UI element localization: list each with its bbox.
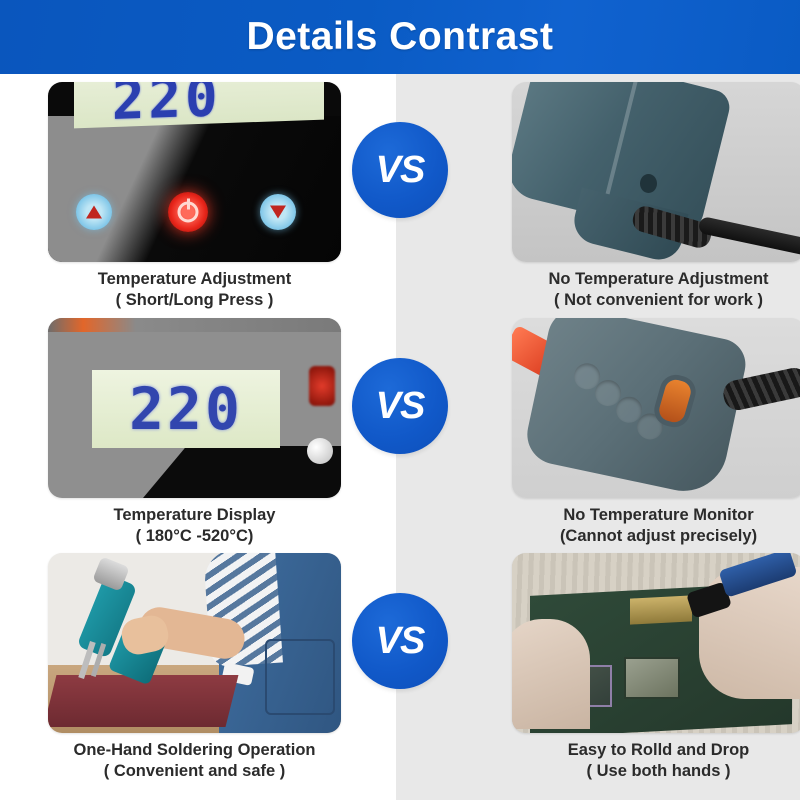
row-1-right-title: No Temperature Adjustment <box>548 270 768 288</box>
row-3-right-title: Easy to Rolld and Drop <box>568 741 750 759</box>
row-3-left-subtitle: ( Convenient and safe ) <box>48 761 341 782</box>
handle-vent-hole <box>640 174 657 193</box>
plain-handle-cable-photo <box>512 82 800 262</box>
infographic-page: Details Contrast 220 Temperatur <box>0 0 800 800</box>
gold-connector <box>630 595 692 624</box>
row-1-right-cell: No Temperature Adjustment ( Not convenie… <box>512 82 800 311</box>
control-panel-lcd-photo: 220 <box>48 82 341 262</box>
row-1-right-caption: No Temperature Adjustment ( Not convenie… <box>512 269 800 311</box>
vs-badge-row-2: VS <box>352 358 448 454</box>
row-2-left-subtitle: ( 180°C -520°C) <box>48 526 341 547</box>
row-2-right-cell: No Temperature Monitor (Cannot adjust pr… <box>512 318 800 547</box>
row-1-left-subtitle: ( Short/Long Press ) <box>48 290 341 311</box>
row-1-left-caption: Temperature Adjustment ( Short/Long Pres… <box>48 269 341 311</box>
two-hand-motherboard-photo <box>512 553 800 733</box>
row-3-right-subtitle: ( Use both hands ) <box>512 761 800 782</box>
pistol-grip-body <box>522 318 750 498</box>
panel-lcd-value: 220 <box>112 82 222 132</box>
row-2-left-cell: 220 Temperature Display ( 180°C -520°C) <box>48 318 348 547</box>
temperature-up-button[interactable] <box>76 194 112 230</box>
pistol-grip-trigger-photo <box>512 318 800 498</box>
vs-badge-label-2: VS <box>376 385 425 428</box>
row-3-left-caption: One-Hand Soldering Operation ( Convenien… <box>48 740 341 782</box>
power-icon <box>178 202 199 223</box>
cpu-socket <box>624 657 680 699</box>
arrow-down-icon <box>270 206 286 219</box>
lcd-temperature-closeup-photo: 220 <box>48 318 341 498</box>
overall-pocket <box>265 639 335 715</box>
red-indicator <box>309 366 335 406</box>
row-3-right-cell: Easy to Rolld and Drop ( Use both hands … <box>512 553 800 782</box>
device-top-edge <box>48 318 341 332</box>
panel-body <box>48 116 341 262</box>
power-button[interactable] <box>168 192 208 232</box>
row-2-right-subtitle: (Cannot adjust precisely) <box>512 526 800 547</box>
row-3-right-caption: Easy to Rolld and Drop ( Use both hands … <box>512 740 800 782</box>
temperature-down-button[interactable] <box>260 194 296 230</box>
side-knob <box>307 438 333 464</box>
row-2-left-title: Temperature Display <box>113 506 275 524</box>
one-hand-soldering-photo <box>48 553 341 733</box>
vs-badge-label-1: VS <box>376 149 425 192</box>
row-3-left-cell: One-Hand Soldering Operation ( Convenien… <box>48 553 348 782</box>
lcd-temperature-value: 220 <box>92 370 280 448</box>
page-title: Details Contrast <box>246 15 553 59</box>
comparison-row-1: 220 Temperature Adjustment ( Short/Long … <box>0 82 800 314</box>
row-2-right-caption: No Temperature Monitor (Cannot adjust pr… <box>512 505 800 547</box>
page-header: Details Contrast <box>0 0 800 74</box>
row-2-left-caption: Temperature Display ( 180°C -520°C) <box>48 505 341 547</box>
left-hand <box>512 619 590 729</box>
lcd-screen: 220 <box>92 370 280 448</box>
vs-badge-row-1: VS <box>352 122 448 218</box>
vs-badge-label-3: VS <box>376 620 425 663</box>
comparison-row-2: 220 Temperature Display ( 180°C -520°C) … <box>0 318 800 550</box>
vs-badge-row-3: VS <box>352 593 448 689</box>
row-3-left-title: One-Hand Soldering Operation <box>73 741 315 759</box>
row-2-right-title: No Temperature Monitor <box>563 506 753 524</box>
comparison-row-3: One-Hand Soldering Operation ( Convenien… <box>0 553 800 785</box>
power-cable <box>698 216 800 257</box>
row-1-right-subtitle: ( Not convenient for work ) <box>512 290 800 311</box>
arrow-up-icon <box>86 206 102 219</box>
row-1-left-cell: 220 Temperature Adjustment ( Short/Long … <box>48 82 348 311</box>
row-1-left-title: Temperature Adjustment <box>98 270 291 288</box>
